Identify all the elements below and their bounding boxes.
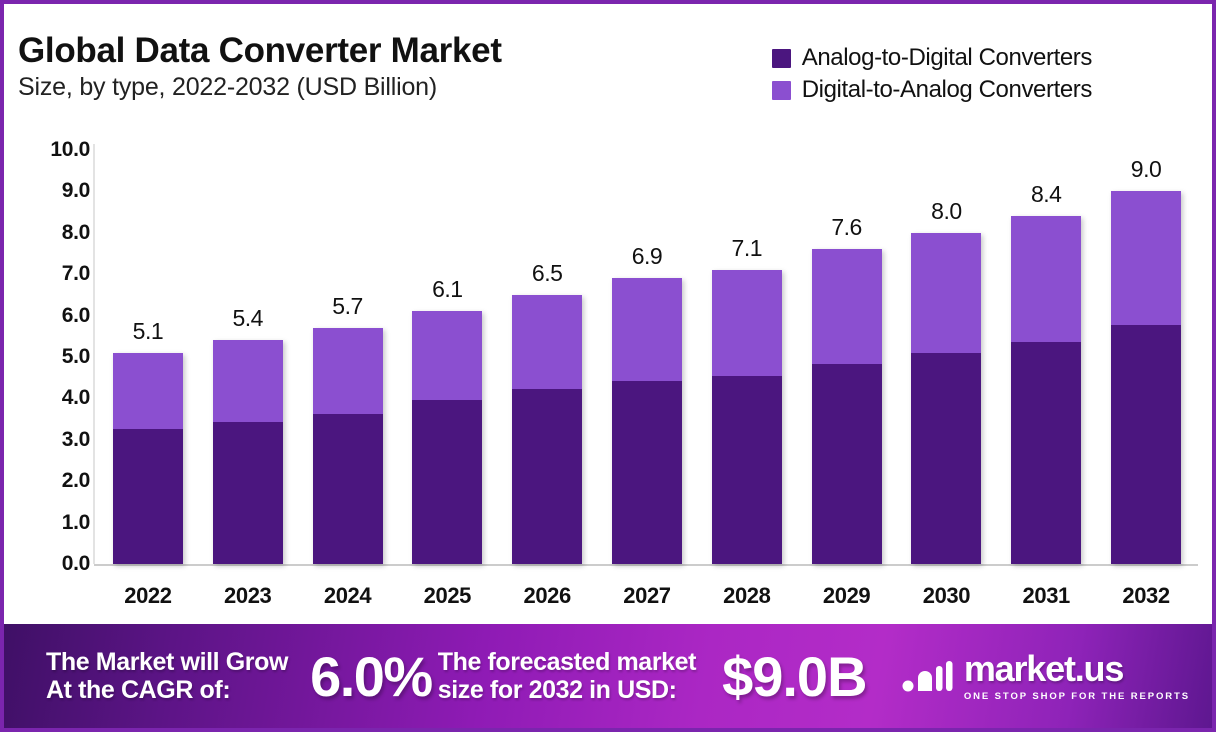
cagr-label: The Market will Grow At the CAGR of: bbox=[46, 648, 288, 704]
chart-plot-area: 0.01.02.03.04.05.06.07.08.09.010.0 5.15.… bbox=[4, 134, 1216, 624]
logo-tagline: ONE STOP SHOP FOR THE REPORTS bbox=[964, 691, 1190, 702]
x-axis-tick: 2028 bbox=[712, 583, 782, 609]
x-axis-tick: 2027 bbox=[612, 583, 682, 609]
bar-segment-analog-to-digital[interactable] bbox=[712, 376, 782, 564]
title-block: Global Data Converter Market Size, by ty… bbox=[18, 32, 502, 102]
stacked-bar[interactable] bbox=[113, 353, 183, 564]
bar-column[interactable]: 6.1 bbox=[412, 134, 482, 564]
stacked-bar[interactable] bbox=[612, 278, 682, 564]
bar-value-label: 6.5 bbox=[532, 260, 562, 287]
x-axis: 2022202320242025202620272028202920302031… bbox=[98, 574, 1196, 618]
bar-segment-analog-to-digital[interactable] bbox=[1011, 342, 1081, 564]
bar-segment-analog-to-digital[interactable] bbox=[1111, 325, 1181, 564]
page-subtitle: Size, by type, 2022-2032 (USD Billion) bbox=[18, 73, 502, 102]
legend-item-digital-to-analog[interactable]: Digital-to-Analog Converters bbox=[772, 74, 1092, 106]
y-axis-tick: 6.0 bbox=[62, 304, 90, 328]
legend-swatch-icon bbox=[772, 81, 791, 100]
bar-value-label: 8.0 bbox=[931, 198, 961, 225]
forecast-label-line2: size for 2032 in USD: bbox=[438, 676, 696, 704]
legend-swatch-icon bbox=[772, 49, 791, 68]
y-axis-tick: 4.0 bbox=[62, 386, 90, 410]
summary-banner: The Market will Grow At the CAGR of: 6.0… bbox=[4, 624, 1212, 728]
bar-segment-analog-to-digital[interactable] bbox=[612, 381, 682, 564]
y-axis-tick: 9.0 bbox=[62, 179, 90, 203]
y-axis: 0.01.02.03.04.05.06.07.08.09.010.0 bbox=[20, 134, 90, 564]
bar-segment-analog-to-digital[interactable] bbox=[812, 364, 882, 564]
stacked-bar[interactable] bbox=[911, 233, 981, 564]
page-title: Global Data Converter Market bbox=[18, 32, 502, 70]
bar-value-label: 8.4 bbox=[1031, 181, 1061, 208]
bar-value-label: 7.6 bbox=[831, 214, 861, 241]
bar-segment-analog-to-digital[interactable] bbox=[512, 389, 582, 564]
bar-segment-digital-to-analog[interactable] bbox=[1111, 191, 1181, 325]
forecast-value: $9.0B bbox=[722, 644, 866, 709]
bar-segment-analog-to-digital[interactable] bbox=[313, 414, 383, 564]
bar-value-label: 5.7 bbox=[332, 293, 362, 320]
stacked-bar[interactable] bbox=[213, 340, 283, 564]
infographic-frame: Global Data Converter Market Size, by ty… bbox=[0, 0, 1216, 732]
stacked-bar[interactable] bbox=[812, 249, 882, 564]
y-axis-tick: 10.0 bbox=[50, 138, 90, 162]
stacked-bar[interactable] bbox=[512, 295, 582, 564]
x-axis-tick: 2024 bbox=[313, 583, 383, 609]
y-axis-tick: 7.0 bbox=[62, 262, 90, 286]
bar-segment-digital-to-analog[interactable] bbox=[313, 328, 383, 414]
legend-label: Digital-to-Analog Converters bbox=[802, 76, 1092, 104]
bar-value-label: 5.1 bbox=[133, 318, 163, 345]
bar-column[interactable]: 8.0 bbox=[911, 134, 981, 564]
cagr-label-line1: The Market will Grow bbox=[46, 648, 288, 676]
bar-segment-digital-to-analog[interactable] bbox=[412, 311, 482, 400]
y-axis-tick: 5.0 bbox=[62, 345, 90, 369]
bar-segment-analog-to-digital[interactable] bbox=[213, 422, 283, 564]
stacked-bar[interactable] bbox=[712, 270, 782, 564]
stacked-bar[interactable] bbox=[313, 328, 383, 564]
stacked-bar[interactable] bbox=[1111, 191, 1181, 564]
forecast-label: The forecasted market size for 2032 in U… bbox=[438, 648, 696, 704]
y-axis-tick: 8.0 bbox=[62, 221, 90, 245]
bar-value-label: 5.4 bbox=[232, 305, 262, 332]
bar-column[interactable]: 9.0 bbox=[1111, 134, 1181, 564]
bar-column[interactable]: 8.4 bbox=[1011, 134, 1081, 564]
bar-segment-analog-to-digital[interactable] bbox=[113, 429, 183, 564]
cagr-value: 6.0% bbox=[310, 644, 432, 709]
bar-segment-digital-to-analog[interactable] bbox=[712, 270, 782, 376]
bar-value-label: 6.9 bbox=[632, 243, 662, 270]
bar-column[interactable]: 7.6 bbox=[812, 134, 882, 564]
chart-legend: Analog-to-Digital Converters Digital-to-… bbox=[772, 42, 1092, 106]
stacked-bar[interactable] bbox=[1011, 216, 1081, 564]
bar-column[interactable]: 6.9 bbox=[612, 134, 682, 564]
bar-segment-digital-to-analog[interactable] bbox=[812, 249, 882, 364]
bar-segment-digital-to-analog[interactable] bbox=[213, 340, 283, 422]
logo-name: market.us bbox=[964, 651, 1190, 687]
bar-value-label: 7.1 bbox=[732, 235, 762, 262]
bar-column[interactable]: 7.1 bbox=[712, 134, 782, 564]
logo-text-block: market.us ONE STOP SHOP FOR THE REPORTS bbox=[964, 651, 1190, 702]
y-axis-tick: 0.0 bbox=[62, 552, 90, 576]
bar-segment-digital-to-analog[interactable] bbox=[512, 295, 582, 389]
x-axis-tick: 2026 bbox=[512, 583, 582, 609]
x-axis-tick: 2031 bbox=[1011, 583, 1081, 609]
x-axis-tick: 2023 bbox=[213, 583, 283, 609]
x-axis-tick: 2030 bbox=[911, 583, 981, 609]
bar-segment-analog-to-digital[interactable] bbox=[911, 353, 981, 564]
forecast-label-line1: The forecasted market bbox=[438, 648, 696, 676]
bar-segment-digital-to-analog[interactable] bbox=[113, 353, 183, 429]
bar-value-label: 6.1 bbox=[432, 276, 462, 303]
legend-label: Analog-to-Digital Converters bbox=[802, 44, 1092, 72]
bar-segment-digital-to-analog[interactable] bbox=[612, 278, 682, 381]
legend-item-analog-to-digital[interactable]: Analog-to-Digital Converters bbox=[772, 42, 1092, 74]
stacked-bar[interactable] bbox=[412, 311, 482, 564]
bar-segment-analog-to-digital[interactable] bbox=[412, 400, 482, 564]
y-axis-tick: 3.0 bbox=[62, 428, 90, 452]
bar-column[interactable]: 5.4 bbox=[213, 134, 283, 564]
x-axis-tick: 2025 bbox=[412, 583, 482, 609]
bar-segment-digital-to-analog[interactable] bbox=[1011, 216, 1081, 342]
brand-logo[interactable]: market.us ONE STOP SHOP FOR THE REPORTS bbox=[902, 651, 1190, 702]
y-axis-tick: 2.0 bbox=[62, 469, 90, 493]
bar-value-label: 9.0 bbox=[1131, 156, 1161, 183]
cagr-label-line2: At the CAGR of: bbox=[46, 676, 288, 704]
bar-column[interactable]: 5.1 bbox=[113, 134, 183, 564]
bar-column[interactable]: 5.7 bbox=[313, 134, 383, 564]
x-axis-tick: 2022 bbox=[113, 583, 183, 609]
x-axis-tick: 2032 bbox=[1111, 583, 1181, 609]
x-axis-tick: 2029 bbox=[812, 583, 882, 609]
x-axis-line bbox=[94, 564, 1198, 566]
y-axis-tick: 1.0 bbox=[62, 511, 90, 535]
y-axis-line bbox=[93, 144, 95, 564]
bar-segment-digital-to-analog[interactable] bbox=[911, 233, 981, 353]
chart-header: Global Data Converter Market Size, by ty… bbox=[4, 4, 1212, 134]
bar-column[interactable]: 6.5 bbox=[512, 134, 582, 564]
market-us-logo-icon bbox=[902, 658, 954, 694]
bar-series-group: 5.15.45.76.16.56.97.17.68.08.49.0 bbox=[98, 134, 1196, 564]
